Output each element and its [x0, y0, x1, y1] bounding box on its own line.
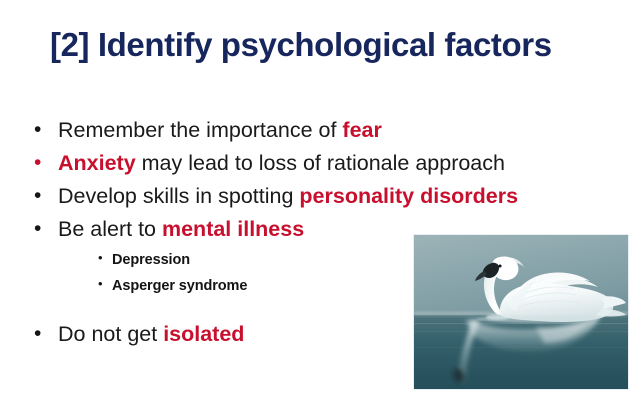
bullet-dot-icon: • [34, 119, 58, 140]
bullet-item-anxiety: • Anxiety may lead to loss of rationale … [34, 153, 614, 186]
bullet-text-emphasis-3: mental illness [162, 217, 304, 241]
bullet-text-plain-1: may lead to loss of rationale approach [136, 151, 505, 175]
bullet-text-plain-0: Remember the importance of [58, 118, 342, 142]
swan-illustration [414, 235, 628, 389]
bullet-dot-icon: • [34, 218, 58, 239]
swan-reflection [453, 317, 600, 384]
slide-canvas: [2] Identify psychological factors • Rem… [0, 0, 640, 400]
bullet-text: Anxiety may lead to loss of rationale ap… [58, 153, 614, 175]
bullet-dot-icon: • [34, 323, 58, 344]
bullet-dot-icon: • [34, 185, 58, 206]
bullet-text-plain-2: Develop skills in spotting [58, 184, 299, 208]
page-title: [2] Identify psychological factors [50, 26, 610, 65]
bullet-text-emphasis-2: personality disorders [299, 184, 518, 208]
swan-on-water-photo [414, 235, 628, 389]
bullet-text-emphasis-1: Anxiety [58, 151, 136, 175]
bullet-text: Remember the importance of fear [58, 120, 614, 142]
bullet-text-plain-3: Be alert to [58, 217, 162, 241]
bullet-text-plain-4: Do not get [58, 322, 163, 346]
sub-bullet-dot-icon: • [98, 251, 112, 264]
swan-body [475, 256, 626, 323]
sub-bullet-dot-icon: • [98, 277, 112, 290]
bullet-text: Develop skills in spotting personality d… [58, 186, 614, 208]
bullet-item-fear: • Remember the importance of fear [34, 120, 614, 153]
bullet-text-emphasis-4: isolated [163, 322, 244, 346]
bullet-dot-icon: • [34, 152, 58, 173]
bullet-item-personality-disorders: • Develop skills in spotting personality… [34, 186, 614, 219]
bullet-text-emphasis-0: fear [342, 118, 381, 142]
